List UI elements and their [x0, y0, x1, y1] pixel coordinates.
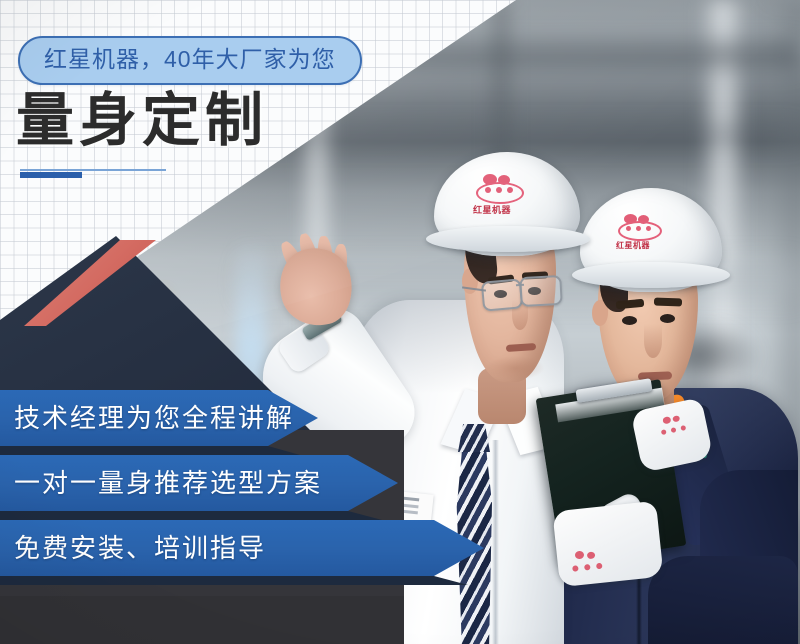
right-worker-eye — [660, 314, 675, 323]
left-engineer-shirt-placket — [492, 440, 499, 644]
tagline-badge: 红星机器，40年大厂家为您 — [18, 36, 362, 85]
left-engineer-necktie-knot — [458, 424, 490, 452]
feature-bar-3-label: 免费安装、培训指导 — [0, 535, 266, 561]
hard-hat-logo-text: 红星机器 — [616, 240, 650, 251]
feature-bar-1-label: 技术经理为您全程讲解 — [0, 405, 294, 431]
right-worker-glove-lower — [552, 501, 663, 587]
promo-banner: 红星机器 红星机器 — [0, 0, 800, 644]
right-worker-forearm — [648, 556, 798, 644]
right-worker-nose — [644, 324, 662, 358]
feature-bar-2-label: 一对一量身推荐选型方案 — [0, 470, 322, 496]
page-title: 量身定制 — [16, 92, 268, 150]
right-worker-eyebrow — [654, 298, 682, 307]
left-engineer-hard-hat-brim — [426, 226, 590, 252]
feature-bar-1: 技术经理为您全程讲解 — [0, 390, 318, 446]
left-engineer-chin-shading — [486, 356, 544, 380]
hard-hat-logo-text: 红星机器 — [473, 203, 511, 216]
feature-bar-2: 一对一量身推荐选型方案 — [0, 455, 398, 511]
left-engineer-eyeglass-lens — [519, 275, 563, 307]
headline-underline-thick — [20, 172, 82, 178]
right-worker-eye — [622, 316, 637, 325]
feature-bar-shadow — [0, 576, 468, 585]
feature-bar-shadow — [0, 446, 300, 455]
gray-base-bottom-strip — [0, 596, 404, 644]
feature-bar-shadow — [0, 511, 382, 520]
right-worker-hard-hat-brim — [572, 262, 730, 288]
feature-bar-3: 免费安装、培训指导 — [0, 520, 484, 576]
headline-underline-thin — [20, 169, 166, 171]
